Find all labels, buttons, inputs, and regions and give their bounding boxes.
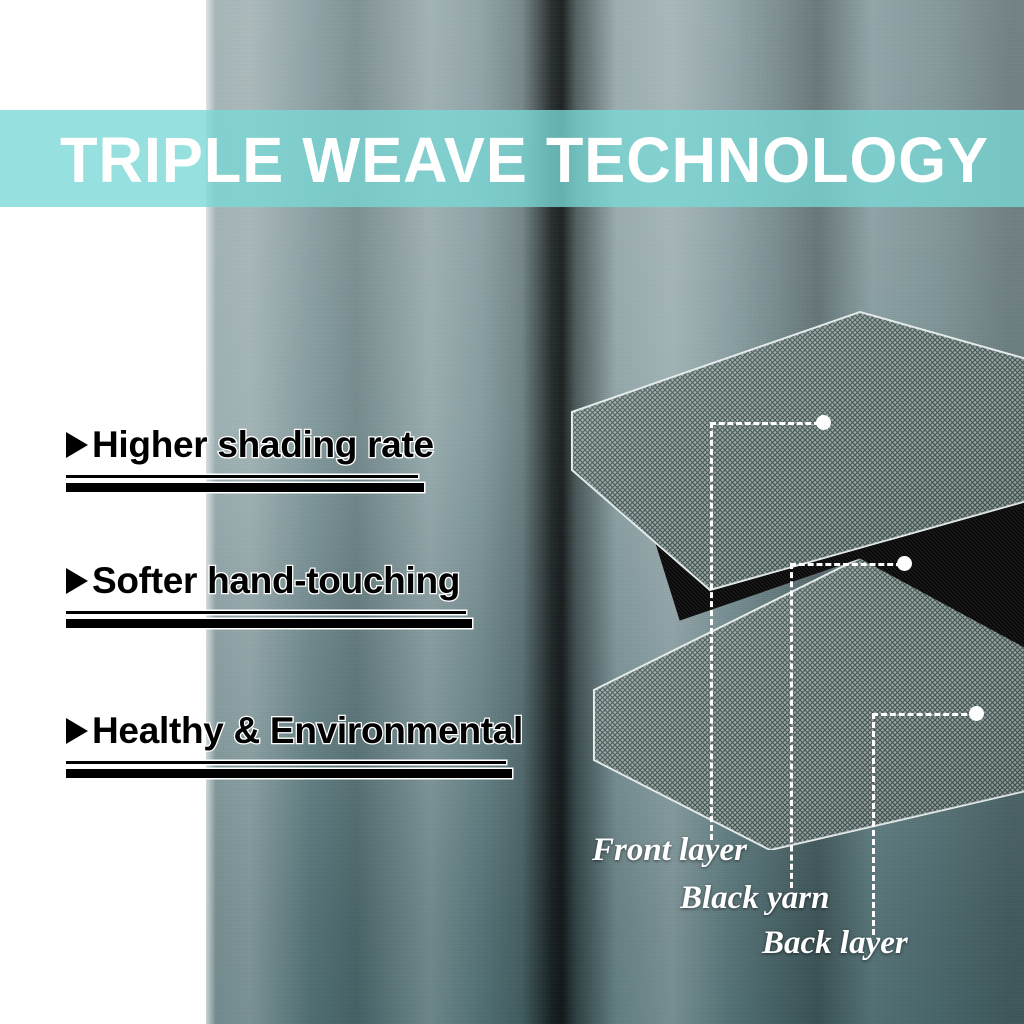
feature-underline-2 bbox=[66, 611, 472, 628]
feature-label-2: Softer hand-touching bbox=[92, 560, 460, 602]
underline-thick-1 bbox=[66, 483, 424, 492]
underline-thin-3 bbox=[66, 761, 506, 764]
feature-item-3: Healthy & Environmental bbox=[66, 710, 523, 778]
underline-thin-1 bbox=[66, 475, 418, 478]
black-yarn-label: Black yarn bbox=[680, 880, 829, 917]
black-yarn-dot-marker bbox=[897, 556, 912, 571]
black-yarn-leader-vertical bbox=[790, 563, 793, 888]
back-layer-leader-horizontal bbox=[872, 713, 976, 716]
feature-label-1: Higher shading rate bbox=[92, 424, 434, 466]
product-feature-image: Front layer Black yarn Back layer TRIPLE… bbox=[0, 0, 1024, 1024]
back-layer-dot-marker bbox=[969, 706, 984, 721]
triangle-right-icon bbox=[66, 568, 88, 594]
feature-underline-3 bbox=[66, 761, 523, 778]
triangle-right-icon bbox=[66, 432, 88, 458]
feature-item-2: Softer hand-touching bbox=[66, 560, 472, 628]
feature-label-3: Healthy & Environmental bbox=[92, 710, 523, 752]
back-layer-label: Back layer bbox=[762, 925, 908, 962]
feature-item-1: Higher shading rate bbox=[66, 424, 434, 492]
front-layer-leader-vertical bbox=[710, 422, 713, 840]
page-title: TRIPLE WEAVE TECHNOLOGY bbox=[60, 116, 989, 204]
front-layer-leader-horizontal bbox=[710, 422, 820, 425]
feature-underline-1 bbox=[66, 475, 434, 492]
underline-thick-3 bbox=[66, 769, 512, 778]
triangle-right-icon bbox=[66, 718, 88, 744]
underline-thin-2 bbox=[66, 611, 466, 614]
underline-thick-2 bbox=[66, 619, 472, 628]
black-yarn-leader-horizontal bbox=[790, 563, 902, 566]
front-layer-label: Front layer bbox=[592, 832, 747, 869]
back-layer-leader-vertical bbox=[872, 713, 875, 935]
front-layer-dot-marker bbox=[816, 415, 831, 430]
